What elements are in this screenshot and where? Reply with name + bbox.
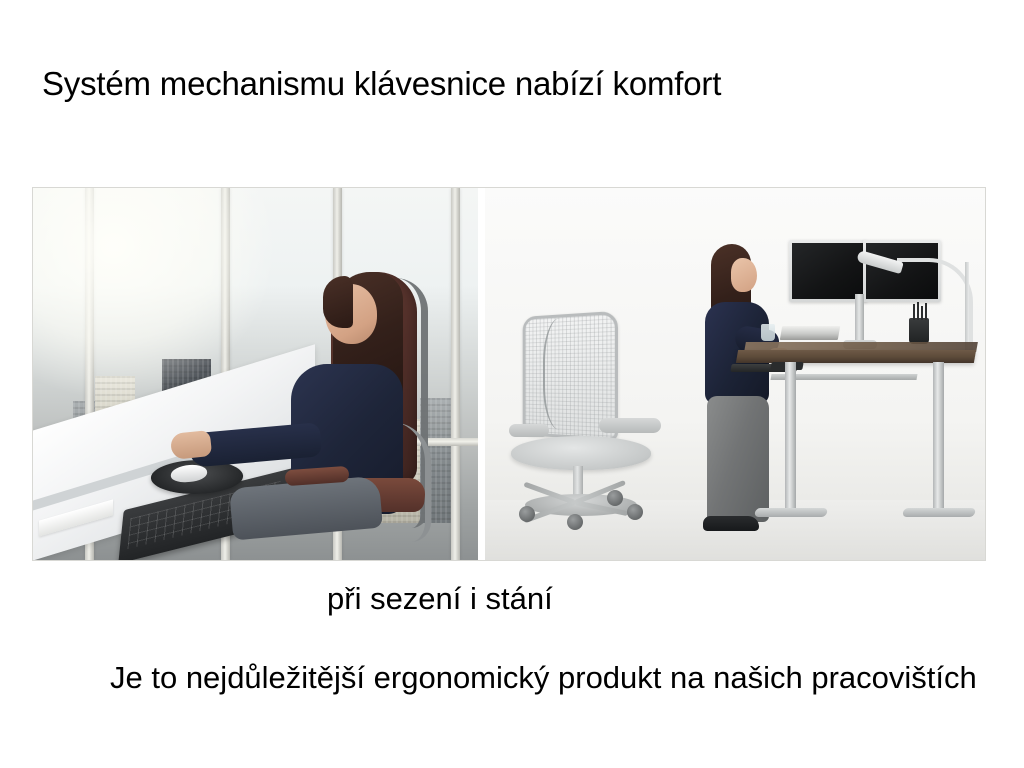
chair-armrest [599, 418, 661, 433]
desk-foot [902, 508, 976, 517]
desk-foot [754, 508, 828, 517]
pencil-cup [909, 318, 929, 344]
chair-caster [567, 514, 583, 530]
photo-divider [478, 188, 485, 560]
pencils [912, 302, 927, 320]
drinking-glass [761, 324, 775, 341]
mesh-task-chair [503, 314, 671, 526]
photo-seated-workstation [33, 188, 478, 560]
seated-person-and-chair [277, 272, 437, 560]
monitor-arm [855, 294, 864, 344]
chair-caster [627, 504, 643, 520]
desk-leg [785, 362, 796, 512]
task-lamp-stem [965, 262, 969, 352]
caption-middle: při sezení i stání [327, 583, 553, 614]
photo-standing-workstation [485, 188, 985, 560]
window-mullion [451, 188, 460, 560]
chair-armrest [509, 424, 549, 437]
monitor-screen [792, 243, 864, 299]
chair-back-curve [543, 318, 585, 430]
caption-bottom: Je to nejdůležitější ergonomický produkt… [110, 662, 977, 693]
chair-caster [607, 490, 623, 506]
desk-leg [933, 362, 944, 512]
document-tray [780, 326, 840, 340]
person-hair-front [323, 276, 353, 328]
page-title: Systém mechanismu klávesnice nabízí komf… [42, 67, 721, 100]
height-adjustable-desk [737, 222, 985, 552]
person-hand [170, 430, 212, 460]
chair-seat [511, 436, 651, 470]
chair-caster [519, 506, 535, 522]
figure-composite [33, 188, 985, 560]
monitor-left [789, 240, 867, 302]
